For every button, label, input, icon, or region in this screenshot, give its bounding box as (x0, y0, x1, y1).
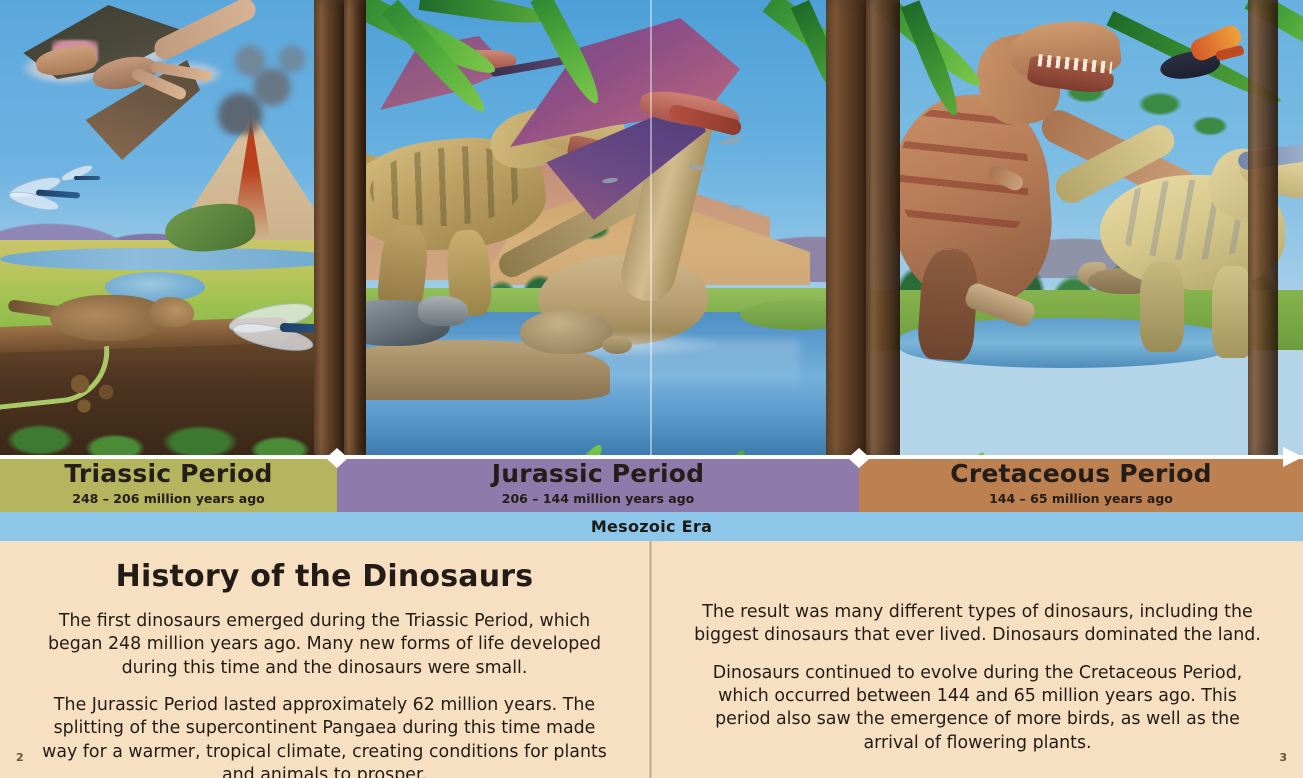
distant-pterosaur (730, 205, 744, 209)
cynodont-body (50, 295, 165, 341)
river (0, 248, 340, 270)
tree-trunk (344, 0, 366, 455)
illustration-panorama (0, 0, 1303, 455)
lizard-head (418, 296, 468, 326)
scene-triassic (0, 0, 340, 455)
tree-trunk (1248, 0, 1278, 455)
era-label: Mesozoic Era (591, 517, 712, 536)
foreground-ferns (0, 370, 340, 455)
body-paragraph: Dinosaurs continued to evolve during the… (692, 662, 1264, 755)
geologic-timeline: Triassic Period 248 – 206 million years … (0, 455, 1303, 512)
body-paragraph: The result was many different types of d… (692, 601, 1264, 648)
right-arrow-icon (1283, 447, 1303, 467)
turtle-shell (520, 310, 612, 354)
page-title: History of the Dinosaurs (0, 559, 649, 594)
timeline-period-name: Jurassic Period (492, 461, 704, 487)
text-spread: History of the Dinosaurs The first dinos… (0, 541, 1303, 778)
hadrosaur-leg (1140, 262, 1184, 352)
page-number-left: 2 (16, 751, 24, 764)
timeline-axis-line (0, 455, 1303, 459)
scene-jurassic (340, 0, 860, 455)
volcano-smoke (200, 25, 330, 135)
page-right: The result was many different types of d… (652, 541, 1303, 778)
timeline-band-jurassic[interactable]: Jurassic Period 206 – 144 million years … (337, 455, 859, 512)
timeline-period-range: 144 – 65 million years ago (989, 491, 1173, 506)
tree-trunk (866, 0, 900, 455)
turtle-head (602, 336, 632, 354)
timeline-period-name: Triassic Period (64, 461, 272, 487)
era-bar: Mesozoic Era (0, 512, 1303, 541)
body-paragraph: The Jurassic Period lasted approximately… (40, 694, 610, 778)
timeline-period-name: Cretaceous Period (950, 461, 1211, 487)
cynodont-head (150, 297, 194, 327)
timeline-divider-marker (848, 448, 870, 468)
page-left: History of the Dinosaurs The first dinos… (0, 541, 649, 778)
scene-cretaceous (860, 0, 1303, 455)
timeline-period-range: 248 – 206 million years ago (72, 491, 264, 506)
panel-seam (650, 0, 652, 455)
body-paragraph: The first dinosaurs emerged during the T… (40, 610, 610, 680)
page-number-right: 3 (1279, 751, 1287, 764)
timeline-band-triassic[interactable]: Triassic Period 248 – 206 million years … (0, 455, 337, 512)
timeline-divider-marker (326, 448, 348, 468)
tree-trunk (314, 0, 346, 455)
tree-trunk (826, 0, 870, 455)
timeline-band-cretaceous[interactable]: Cretaceous Period 144 – 65 million years… (859, 455, 1303, 512)
timeline-period-range: 206 – 144 million years ago (502, 491, 694, 506)
book-spread-page: Triassic Period 248 – 206 million years … (0, 0, 1303, 778)
